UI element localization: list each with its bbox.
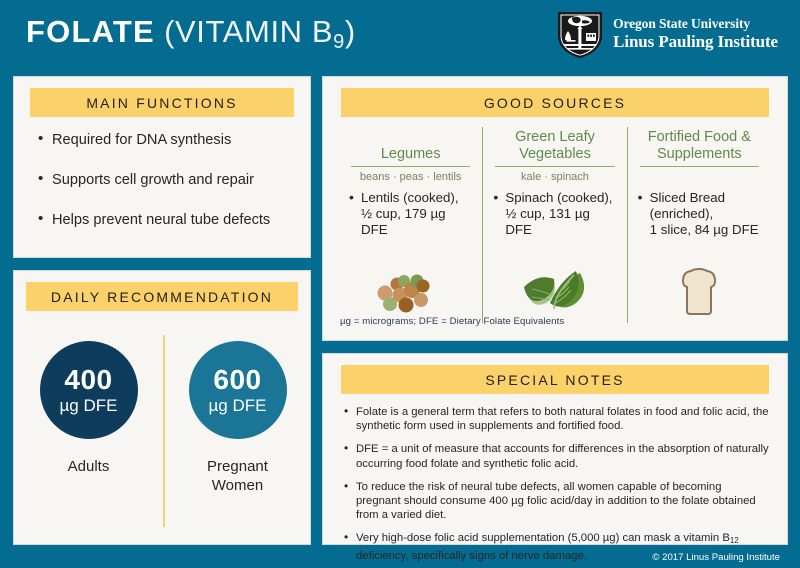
source-title: Fortified Food & Supplements	[636, 127, 763, 163]
logo-university-name: Oregon State University	[613, 16, 778, 32]
special-notes-list: Folate is a general term that refers to …	[343, 405, 769, 563]
units-footnote: µg = micrograms; DFE = Dietary Folate Eq…	[340, 316, 564, 327]
bread-slice-icon	[673, 267, 725, 317]
main-functions-list: Required for DNA synthesis Supports cell…	[38, 131, 288, 229]
source-column-legumes: Legumes beans · peas · lentils Lentils (…	[339, 127, 482, 323]
good-sources-panel: GOOD SOURCES Legumes beans · peas · lent…	[322, 76, 788, 341]
note-b12-post: deficiency, specifically signs of nerve …	[356, 550, 587, 562]
good-sources-heading: GOOD SOURCES	[341, 88, 769, 117]
source-underline	[351, 166, 470, 167]
source-underline	[495, 166, 614, 167]
list-item: Supports cell growth and repair	[38, 171, 288, 189]
dose-adults: 400 µg DFE Adults	[14, 329, 163, 476]
special-notes-heading: SPECIAL NOTES	[341, 365, 769, 394]
source-title: Legumes	[347, 127, 474, 163]
source-column-fortified-food-supplements: Fortified Food & Supplements Sliced Brea…	[627, 127, 771, 323]
spinach-icon-wrap	[483, 265, 626, 317]
list-item: DFE = a unit of measure that accounts fo…	[343, 442, 769, 470]
main-functions-panel: MAIN FUNCTIONS Required for DNA synthesi…	[13, 76, 311, 258]
good-sources-columns: Legumes beans · peas · lentils Lentils (…	[339, 127, 771, 323]
osu-shield-crest-icon	[556, 9, 604, 59]
source-subtitle: kale · spinach	[491, 170, 618, 185]
page-title: FOLATE (VITAMIN B9)	[26, 13, 356, 61]
page-title-sub-post: )	[345, 14, 356, 49]
lentils-icon	[371, 269, 451, 317]
dose-label: Pregnant Women	[163, 457, 312, 495]
infographic-poster: FOLATE (VITAMIN B9)	[0, 0, 800, 568]
source-title: Green Leafy Vegetables	[491, 127, 618, 163]
source-item: Spinach (cooked), ½ cup, 131 µg DFE	[491, 190, 618, 238]
poster-header: FOLATE (VITAMIN B9)	[0, 0, 800, 68]
page-title-sub-pre: (VITAMIN B	[155, 14, 333, 49]
source-column-green-leafy-vegetables: Green Leafy Vegetables kale · spinach Sp…	[482, 127, 626, 323]
dose-unit: µg DFE	[60, 396, 118, 416]
list-item: Helps prevent neural tube defects	[38, 211, 288, 229]
dose-amount: 400	[64, 365, 112, 395]
logo-wordmark: Oregon State University Linus Pauling In…	[613, 16, 778, 52]
main-functions-heading: MAIN FUNCTIONS	[30, 88, 294, 117]
source-subtitle: beans · peas · lentils	[347, 170, 474, 185]
list-item: Folate is a general term that refers to …	[343, 405, 769, 433]
dose-label: Adults	[14, 457, 163, 476]
dose-circle-adults: 400 µg DFE	[40, 341, 138, 439]
daily-recommendation-heading: DAILY RECOMMENDATION	[26, 282, 298, 311]
note-b12-subscript: 12	[730, 536, 739, 545]
page-title-subscript: 9	[333, 31, 345, 53]
dose-circle-pregnant-women: 600 µg DFE	[189, 341, 287, 439]
daily-recommendation-body: 400 µg DFE Adults 600 µg DFE Pregnant Wo…	[14, 329, 310, 543]
special-notes-panel: SPECIAL NOTES Folate is a general term t…	[322, 353, 788, 545]
list-item: Required for DNA synthesis	[38, 131, 288, 149]
dose-amount: 600	[213, 365, 261, 395]
source-item: Sliced Bread (enriched), 1 slice, 84 µg …	[636, 190, 763, 238]
note-b12-pre: Very high-dose folic acid supplementatio…	[356, 532, 730, 544]
bread-icon-wrap	[628, 267, 771, 317]
source-underline	[640, 166, 759, 167]
page-title-main: FOLATE	[26, 14, 155, 49]
dose-unit: µg DFE	[209, 396, 267, 416]
logo-institute-name: Linus Pauling Institute	[613, 32, 778, 52]
dose-pregnant-women: 600 µg DFE Pregnant Women	[163, 329, 312, 495]
daily-recommendation-panel: DAILY RECOMMENDATION 400 µg DFE Adults 6…	[13, 270, 311, 545]
osu-lpi-logo: Oregon State University Linus Pauling In…	[556, 9, 778, 59]
copyright-notice: © 2017 Linus Pauling Institute	[652, 552, 780, 563]
spinach-leaves-icon	[518, 265, 592, 317]
list-item: To reduce the risk of neural tube defect…	[343, 480, 769, 523]
lentils-icon-wrap	[339, 269, 482, 317]
source-subtitle	[636, 170, 763, 185]
source-item: Lentils (cooked), ½ cup, 179 µg DFE	[347, 190, 474, 238]
